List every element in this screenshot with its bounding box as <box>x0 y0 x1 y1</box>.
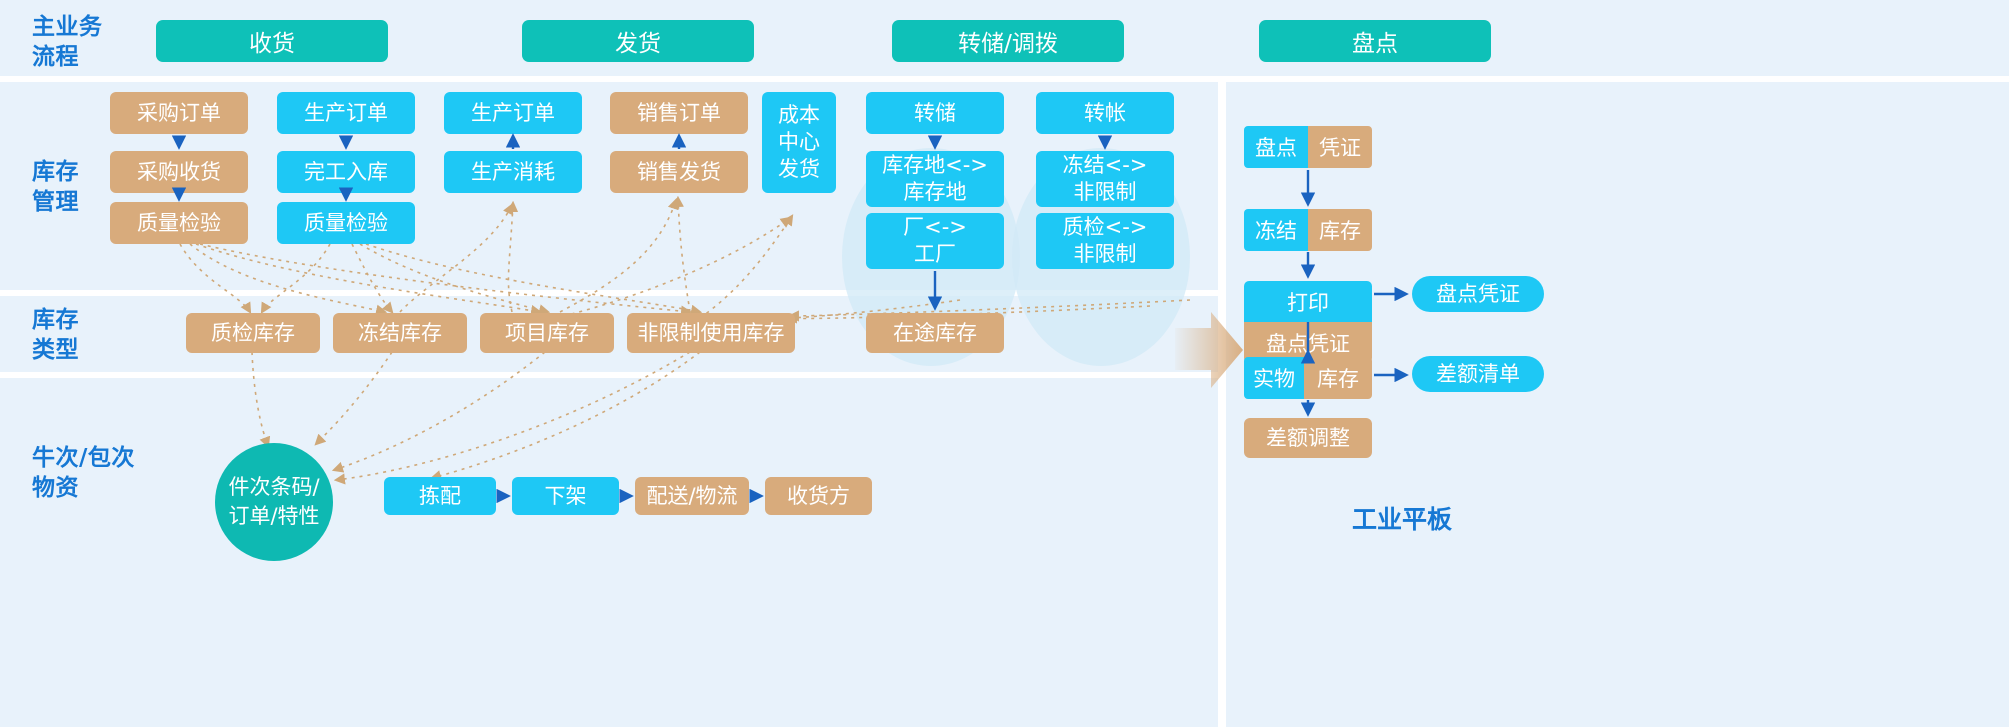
stocktake-panel-caption: 工业平板 <box>1352 500 1452 536</box>
transition-chevron-icon <box>1175 310 1245 390</box>
node-transfer[interactable]: 转储 <box>866 92 1004 134</box>
stocktake-step-freeze[interactable]: 冻结 库存 <box>1244 209 1372 251</box>
stocktake-step-count-right: 凭证 <box>1308 126 1372 168</box>
node-finished-stock-in[interactable]: 完工入库 <box>277 151 415 193</box>
stocktake-physical-stock-box[interactable]: 实物 库存 <box>1244 357 1372 399</box>
stocktake-physical-right: 库存 <box>1304 357 1372 399</box>
stocktake-print-voucher-box[interactable]: 打印 盘点凭证 <box>1244 281 1372 363</box>
node-delivery-logistics[interactable]: 配送/物流 <box>635 477 749 515</box>
node-cost-center-shipping[interactable]: 成本 中心 发货 <box>762 92 836 193</box>
node-blocked-to-unrestricted[interactable]: 冻结<-> 非限制 <box>1036 151 1174 207</box>
stocktake-step-freeze-right: 库存 <box>1308 209 1372 251</box>
node-purchase-inspect[interactable]: 质量检验 <box>110 202 248 244</box>
stocktake-print-label: 打印 <box>1244 281 1372 322</box>
row-label-batch-goods: 牛次/包次 物资 <box>32 443 135 503</box>
stocktake-variance-adjust[interactable]: 差额调整 <box>1244 418 1372 458</box>
node-production-order-2[interactable]: 生产订单 <box>444 92 582 134</box>
node-production-inspect[interactable]: 质量检验 <box>277 202 415 244</box>
node-receiver[interactable]: 收货方 <box>765 477 872 515</box>
diagram-canvas: 主业务 流程 库存 管理 库存 类型 牛次/包次 物资 收货 发货 转储/调拨 … <box>0 0 2009 727</box>
band-stocktake-body <box>1225 82 2009 727</box>
node-type-qi-stock[interactable]: 质检库存 <box>186 313 320 353</box>
node-plant-to-plant[interactable]: 厂<-> 工厂 <box>866 213 1004 269</box>
node-production-consume[interactable]: 生产消耗 <box>444 151 582 193</box>
stocktake-output-voucher[interactable]: 盘点凭证 <box>1412 276 1544 312</box>
node-posting[interactable]: 转帐 <box>1036 92 1174 134</box>
row-label-inventory-type: 库存 类型 <box>32 305 79 365</box>
node-storage-to-storage[interactable]: 库存地<-> 库存地 <box>866 151 1004 207</box>
node-sales-order[interactable]: 销售订单 <box>610 92 748 134</box>
node-type-project-stock[interactable]: 项目库存 <box>480 313 614 353</box>
phase-pill-shipping[interactable]: 发货 <box>522 20 754 62</box>
stocktake-physical-left: 实物 <box>1244 357 1304 399</box>
node-unshelve[interactable]: 下架 <box>512 477 619 515</box>
stocktake-step-freeze-left: 冻结 <box>1244 209 1308 251</box>
node-type-unrestricted-stock[interactable]: 非限制使用库存 <box>627 313 795 353</box>
stocktake-step-count-left: 盘点 <box>1244 126 1308 168</box>
panel-divider <box>1218 82 1226 727</box>
node-batch-barcode-circle[interactable]: 件次条码/ 订单/特性 <box>215 443 333 561</box>
stocktake-output-variance[interactable]: 差额清单 <box>1412 356 1544 392</box>
node-sales-delivery[interactable]: 销售发货 <box>610 151 748 193</box>
row-label-inventory-management: 库存 管理 <box>32 157 79 217</box>
node-type-blocked-stock[interactable]: 冻结库存 <box>333 313 467 353</box>
stocktake-step-count[interactable]: 盘点 凭证 <box>1244 126 1372 168</box>
row-label-main-process: 主业务 流程 <box>32 12 103 72</box>
node-type-in-transit-stock[interactable]: 在途库存 <box>866 313 1004 353</box>
node-production-order[interactable]: 生产订单 <box>277 92 415 134</box>
phase-pill-receiving[interactable]: 收货 <box>156 20 388 62</box>
phase-pill-stocktake[interactable]: 盘点 <box>1259 20 1491 62</box>
node-picking[interactable]: 拣配 <box>384 477 496 515</box>
phase-pill-transfer[interactable]: 转储/调拨 <box>892 20 1124 62</box>
node-purchase-order[interactable]: 采购订单 <box>110 92 248 134</box>
node-purchase-receipt[interactable]: 采购收货 <box>110 151 248 193</box>
node-qi-to-unrestricted[interactable]: 质检<-> 非限制 <box>1036 213 1174 269</box>
